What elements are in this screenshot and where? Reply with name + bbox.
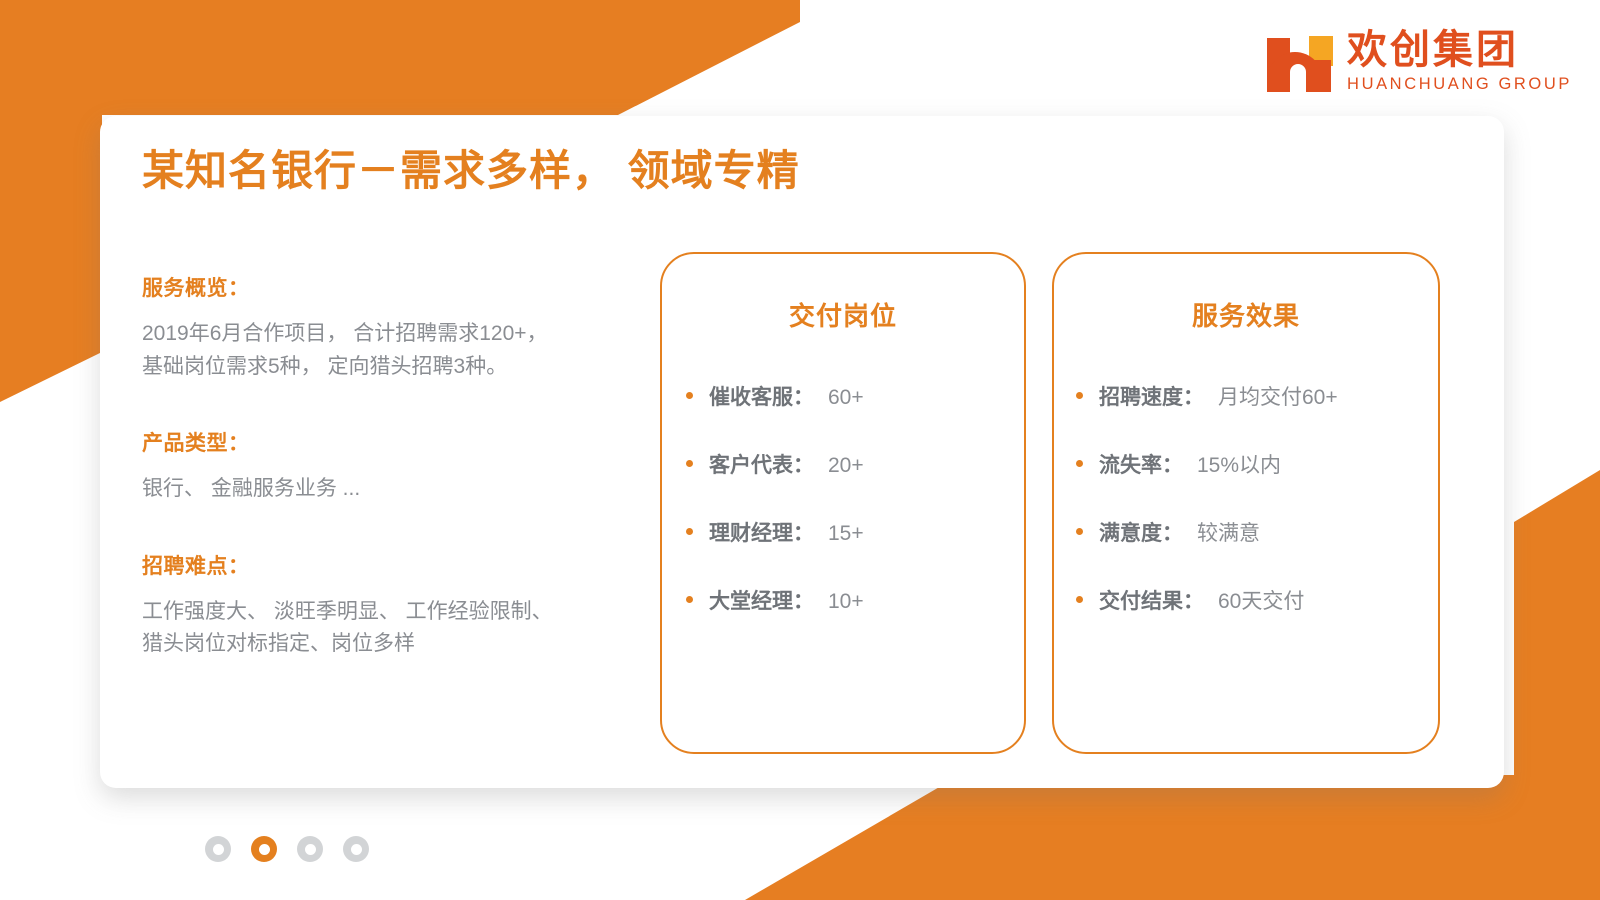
list-item-label: 理财经理： bbox=[709, 517, 814, 547]
list-item-value: 15%以内 bbox=[1197, 449, 1281, 479]
pagination-dot-2[interactable] bbox=[251, 836, 277, 862]
left-info-column: 服务概览： 2019年6月合作项目， 合计招聘需求120+， 基础岗位需求5种，… bbox=[142, 272, 652, 705]
list-item: 满意度： 较满意 bbox=[1054, 517, 1438, 547]
info-body: 2019年6月合作项目， 合计招聘需求120+， 基础岗位需求5种， 定向猎头招… bbox=[142, 318, 652, 383]
list-item-label: 流失率： bbox=[1099, 449, 1183, 479]
pagination-dot-3[interactable] bbox=[297, 836, 323, 862]
list-item: 理财经理： 15+ bbox=[662, 517, 1024, 547]
pagination-dots[interactable] bbox=[205, 836, 369, 862]
panel-title: 交付岗位 bbox=[662, 296, 1024, 333]
list-item-value: 60天交付 bbox=[1218, 585, 1304, 615]
list-item: 大堂经理： 10+ bbox=[662, 585, 1024, 615]
logo-chinese-name: 欢创集团 bbox=[1347, 30, 1572, 70]
info-block-product-type: 产品类型： 银行、 金融服务业务 ... bbox=[142, 427, 652, 506]
list-item-label: 满意度： bbox=[1099, 517, 1183, 547]
list-item-value: 15+ bbox=[828, 522, 864, 546]
page-title: 某知名银行－需求多样， 领域专精 bbox=[142, 137, 800, 198]
info-block-service-overview: 服务概览： 2019年6月合作项目， 合计招聘需求120+， 基础岗位需求5种，… bbox=[142, 272, 652, 383]
info-block-recruitment-difficulty: 招聘难点： 工作强度大、 淡旺季明显、 工作经验限制、 猎头岗位对标指定、岗位多… bbox=[142, 550, 652, 661]
info-heading: 服务概览： bbox=[142, 272, 652, 302]
decorative-shape-top-left bbox=[0, 0, 820, 130]
info-body: 银行、 金融服务业务 ... bbox=[142, 473, 652, 506]
list-item: 交付结果： 60天交付 bbox=[1054, 585, 1438, 615]
panel-delivered-positions: 交付岗位 催收客服： 60+ 客户代表： 20+ 理财经理： 15+ 大堂经理：… bbox=[660, 252, 1026, 754]
bullet-icon bbox=[686, 392, 693, 399]
list-item: 流失率： 15%以内 bbox=[1054, 449, 1438, 479]
bullet-icon bbox=[686, 528, 693, 535]
logo-text: 欢创集团 HUANCHUANG GROUP bbox=[1347, 30, 1572, 93]
company-logo: 欢创集团 HUANCHUANG GROUP bbox=[1267, 24, 1572, 98]
slide-root: 欢创集团 HUANCHUANG GROUP 某知名银行－需求多样， 领域专精 服… bbox=[0, 0, 1600, 900]
list-item: 客户代表： 20+ bbox=[662, 449, 1024, 479]
bullet-icon bbox=[686, 460, 693, 467]
list-item-value: 20+ bbox=[828, 454, 864, 478]
list-item: 招聘速度： 月均交付60+ bbox=[1054, 381, 1438, 411]
logo-mark-icon bbox=[1267, 30, 1333, 92]
bullet-icon bbox=[1076, 528, 1083, 535]
list-item-value: 月均交付60+ bbox=[1218, 381, 1338, 411]
bullet-icon bbox=[1076, 596, 1083, 603]
list-item-label: 大堂经理： bbox=[709, 585, 814, 615]
list-item-label: 招聘速度： bbox=[1099, 381, 1204, 411]
panel-service-results: 服务效果 招聘速度： 月均交付60+ 流失率： 15%以内 满意度： 较满意 交… bbox=[1052, 252, 1440, 754]
list-item-label: 交付结果： bbox=[1099, 585, 1204, 615]
info-body: 工作强度大、 淡旺季明显、 工作经验限制、 猎头岗位对标指定、岗位多样 bbox=[142, 596, 652, 661]
list-item: 催收客服： 60+ bbox=[662, 381, 1024, 411]
list-item-value: 较满意 bbox=[1197, 517, 1260, 547]
panel-item-list: 催收客服： 60+ 客户代表： 20+ 理财经理： 15+ 大堂经理： 10+ bbox=[662, 381, 1024, 615]
list-item-label: 催收客服： bbox=[709, 381, 814, 411]
panel-title: 服务效果 bbox=[1054, 296, 1438, 333]
pagination-dot-4[interactable] bbox=[343, 836, 369, 862]
logo-english-name: HUANCHUANG GROUP bbox=[1347, 76, 1572, 93]
pagination-dot-1[interactable] bbox=[205, 836, 231, 862]
info-heading: 招聘难点： bbox=[142, 550, 652, 580]
bullet-icon bbox=[686, 596, 693, 603]
info-heading: 产品类型： bbox=[142, 427, 652, 457]
list-item-label: 客户代表： bbox=[709, 449, 814, 479]
bullet-icon bbox=[1076, 392, 1083, 399]
list-item-value: 10+ bbox=[828, 590, 864, 614]
panel-item-list: 招聘速度： 月均交付60+ 流失率： 15%以内 满意度： 较满意 交付结果： … bbox=[1054, 381, 1438, 615]
list-item-value: 60+ bbox=[828, 386, 864, 410]
bullet-icon bbox=[1076, 460, 1083, 467]
